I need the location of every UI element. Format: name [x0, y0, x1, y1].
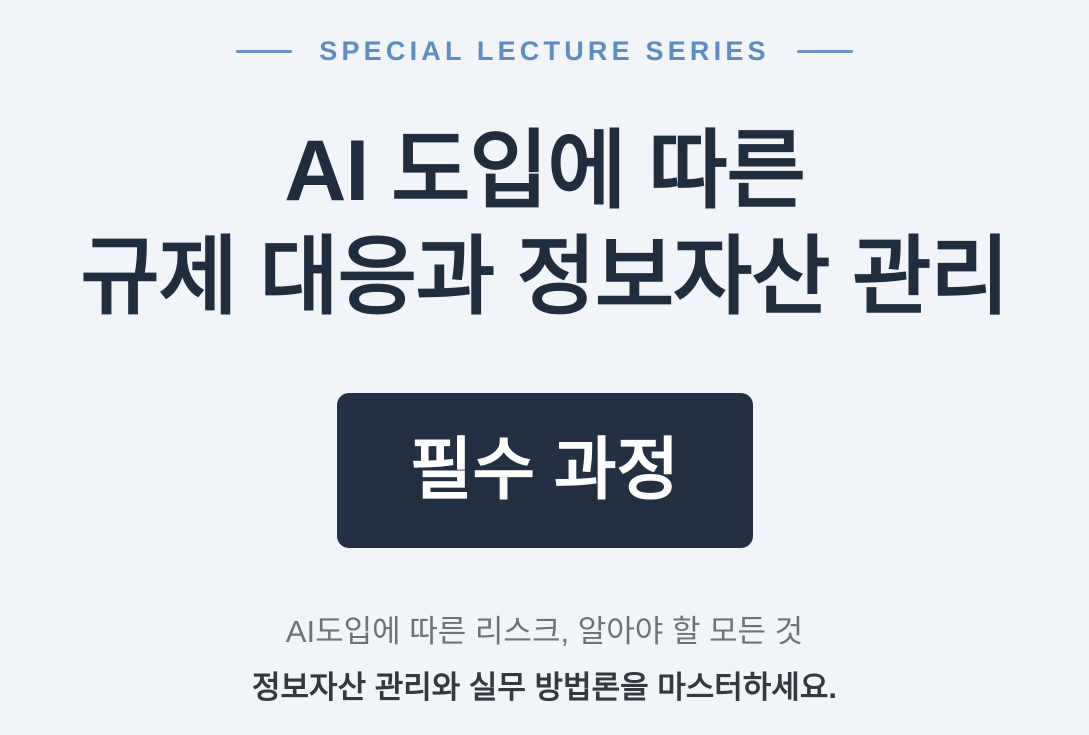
headline-line-1: AI 도입에 따른 [80, 122, 1008, 222]
headline-line-2: 규제 대응과 정보자산 관리 [80, 228, 1008, 328]
status-badge-label: 필수 과정 [410, 436, 679, 504]
page-title: AI 도입에 따른 규제 대응과 정보자산 관리 [80, 122, 1008, 328]
subtitle-line-2: 정보자산 관리와 실무 방법론을 마스터하세요. [252, 668, 837, 708]
eyebrow-rule-right [797, 50, 853, 53]
subtitle-group: AI도입에 따른 리스크, 알아야 할 모든 것 정보자산 관리와 실무 방법론… [252, 612, 837, 709]
status-badge: 필수 과정 [337, 393, 753, 548]
eyebrow-rule-left [236, 50, 292, 53]
lecture-hero-banner: SPECIAL LECTURE SERIES AI 도입에 따른 규제 대응과 … [0, 0, 1089, 735]
eyebrow: SPECIAL LECTURE SERIES [236, 30, 852, 72]
subtitle-line-1: AI도입에 따른 리스크, 알아야 할 모든 것 [252, 612, 837, 652]
eyebrow-label: SPECIAL LECTURE SERIES [319, 38, 769, 65]
